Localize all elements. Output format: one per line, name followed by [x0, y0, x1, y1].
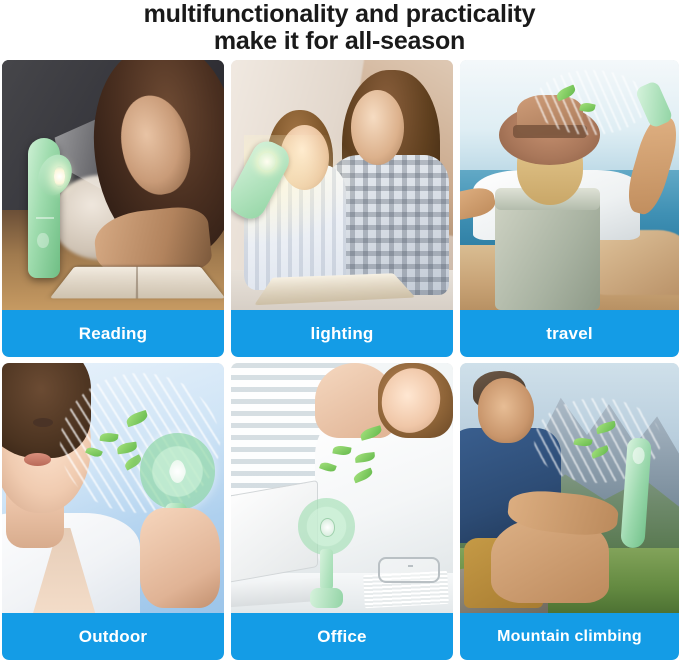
- scene-image-travel: [460, 60, 679, 310]
- scene-tile-office[interactable]: Office: [231, 363, 453, 660]
- caption-bar-mountain-climbing: Mountain climbing: [460, 613, 679, 660]
- scene-tile-reading[interactable]: Reading: [2, 60, 224, 357]
- caption-label: travel: [546, 324, 593, 344]
- fan-base: [310, 588, 342, 608]
- led-light-icon: [54, 166, 65, 187]
- headline-line-1: multifunctionality and practicality: [144, 0, 536, 28]
- handheld-fan-light: [22, 138, 73, 278]
- headline-line-2: make it for all-season: [0, 28, 679, 55]
- scene-tile-mountain-climbing[interactable]: Mountain climbing: [460, 363, 679, 660]
- fan-hub: [170, 460, 185, 482]
- caption-label: Mountain climbing: [497, 628, 642, 646]
- hiker-head: [478, 378, 535, 443]
- scene-tile-lighting[interactable]: lighting: [231, 60, 453, 357]
- caption-label: Office: [317, 627, 366, 647]
- eyeglasses-icon: [378, 557, 440, 584]
- scene-image-lighting: [231, 60, 453, 310]
- scene-image-office: [231, 363, 453, 613]
- open-book: [50, 267, 224, 299]
- fan-stem: [320, 549, 334, 591]
- scene-tile-travel[interactable]: travel: [460, 60, 679, 357]
- fan-power-button: [37, 233, 48, 248]
- caption-label: lighting: [311, 324, 374, 344]
- breeze-streaks: [534, 70, 648, 135]
- desk-fan: [298, 498, 356, 608]
- caption-label: Outdoor: [79, 627, 147, 647]
- woman-eye: [33, 418, 53, 427]
- caption-bar-outdoor: Outdoor: [2, 613, 224, 660]
- scene-image-reading: [2, 60, 224, 310]
- woman-hand: [140, 508, 220, 608]
- scene-image-mountain-climbing: [460, 363, 679, 613]
- caption-bar-reading: Reading: [2, 310, 224, 357]
- fan-seam: [36, 217, 53, 219]
- woman-lips: [24, 453, 51, 466]
- scene-grid: Reading l: [2, 60, 677, 660]
- scene-tile-outdoor[interactable]: Outdoor: [2, 363, 224, 660]
- page-title: multifunctionality and practicality make…: [0, 0, 679, 55]
- product-feature-infographic: multifunctionality and practicality make…: [0, 0, 679, 664]
- caption-label: Reading: [79, 324, 147, 344]
- backpack: [495, 195, 600, 310]
- caption-bar-travel: travel: [460, 310, 679, 357]
- caption-bar-lighting: lighting: [231, 310, 453, 357]
- caption-bar-office: Office: [231, 613, 453, 660]
- scene-image-outdoor: [2, 363, 224, 613]
